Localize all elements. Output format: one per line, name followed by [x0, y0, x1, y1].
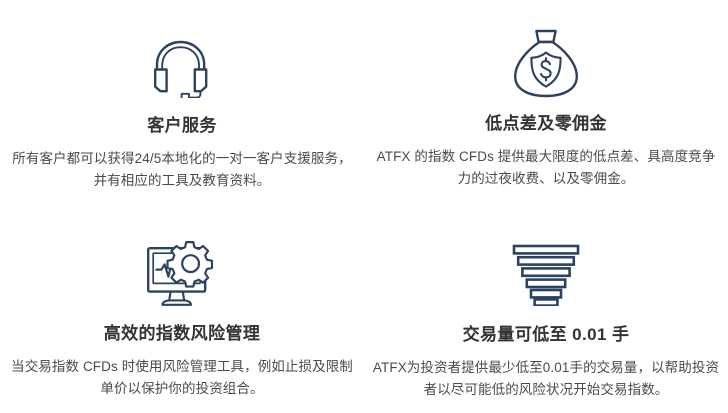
feature-description: 所有客户都可以获得24/5本地化的一对一客户支援服务，并有相应的工具及教育资料。 — [8, 148, 356, 192]
money-bag-shield-dollar-icon — [511, 23, 581, 99]
feature-card-minimum-lot-size: 交易量可低至 0.01 手 ATFX为投资者提供最少低至0.01手的交易量，以帮… — [364, 206, 728, 413]
feature-description: 当交易指数 CFDs 时使用风险管理工具，例如止损及限制单价以保护你的投资组合。 — [8, 356, 356, 400]
feature-title: 交易量可低至 0.01 手 — [463, 324, 630, 346]
headset-icon — [151, 28, 213, 98]
funnel-bars-icon — [512, 236, 580, 306]
monitor-chart-gear-icon — [145, 232, 219, 308]
features-grid: 客户服务 所有客户都可以获得24/5本地化的一对一客户支援服务，并有相应的工具及… — [0, 0, 728, 413]
feature-card-customer-service: 客户服务 所有客户都可以获得24/5本地化的一对一客户支援服务，并有相应的工具及… — [0, 0, 364, 206]
feature-title: 低点差及零佣金 — [485, 113, 607, 135]
feature-card-low-spread-zero-commission: 低点差及零佣金 ATFX 的指数 CFDs 提供最大限度的低点差、具高度竞争力的… — [364, 0, 728, 206]
feature-title: 客户服务 — [147, 115, 217, 137]
feature-description: ATFX为投资者提供最少低至0.01手的交易量，以帮助投资者以尽可能低的风险状况… — [370, 357, 722, 401]
feature-description: ATFX 的指数 CFDs 提供最大限度的低点差、具高度竞争力的过夜收费、以及零… — [370, 146, 722, 190]
feature-card-risk-management: 高效的指数风险管理 当交易指数 CFDs 时使用风险管理工具，例如止损及限制单价… — [0, 206, 364, 413]
feature-title: 高效的指数风险管理 — [104, 323, 261, 345]
